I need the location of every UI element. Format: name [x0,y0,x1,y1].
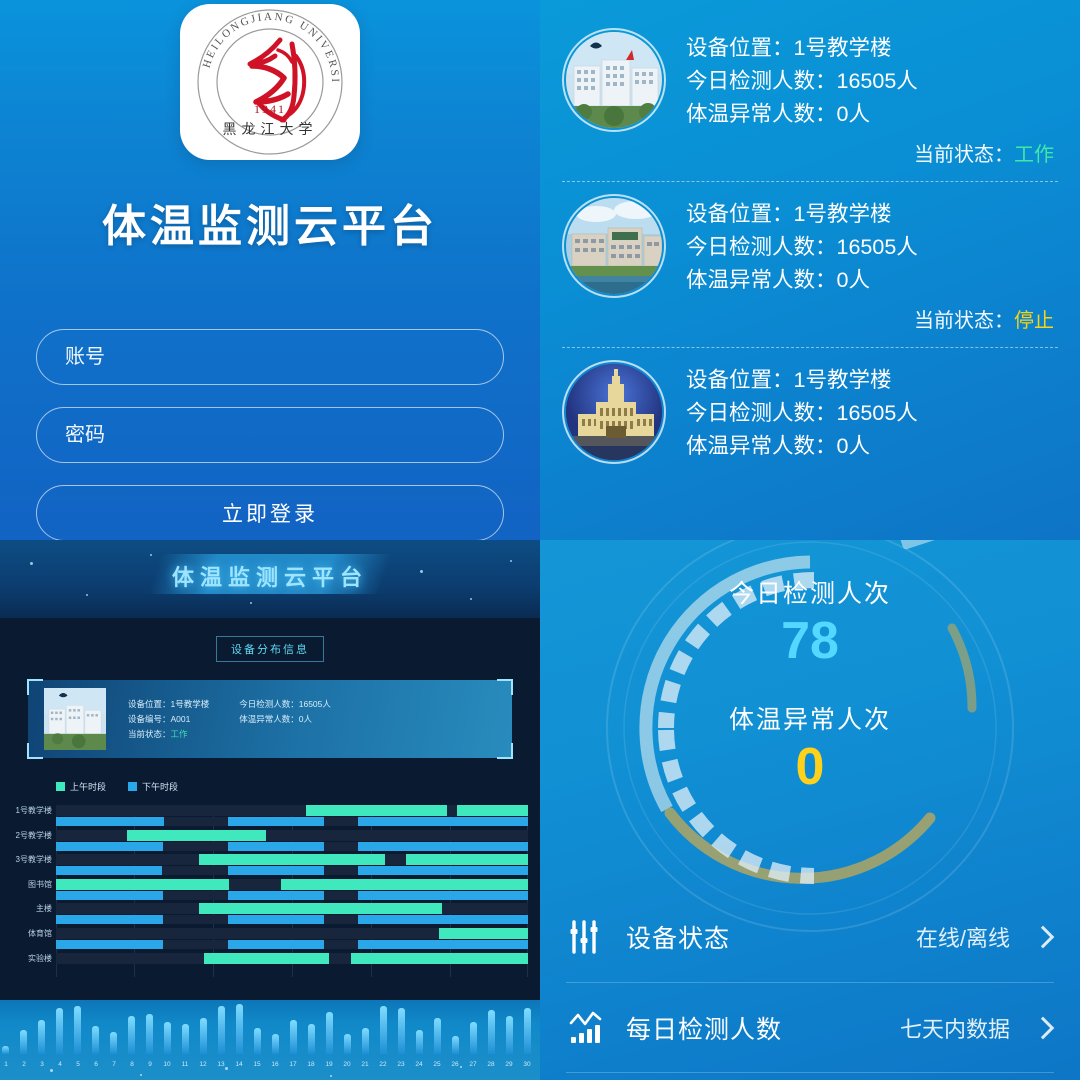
dashboard-device-thumbnail [44,688,106,750]
device-location-line: 设备位置：1号教学楼 [686,32,918,65]
stats-menu: 设备状态 在线/离线 每日检测人数 [540,892,1080,1080]
star-dot [510,560,512,562]
login-button[interactable]: 立即登录 [36,485,504,540]
star-dot [86,594,88,596]
university-seal-icon: HEILONGJIANG UNIVERSITY 1941 黑龙江大学 [192,4,348,160]
legend-swatch [128,782,137,791]
chart-row: 2号教学楼 [56,830,528,854]
device-thumbnail [562,194,666,298]
device-status-row: 当前状态：工作 [562,138,1058,167]
status-badge: 停止 [1014,310,1054,332]
device-info: 设备位置：1号教学楼 今日检测人数：16505人 体温异常人数：0人 [686,194,918,297]
chevron-right-icon [1032,1017,1054,1039]
legend-item-afternoon: 下午时段 [128,780,178,793]
app-screenshot-grid: HEILONGJIANG UNIVERSITY 1941 黑龙江大学 [0,0,1080,1080]
menu-value: 七天内数据 [900,1012,1010,1044]
dashboard-screen: 体温监测云平台 设备分布信息 [0,540,540,1080]
device-location-value: 1号教学楼 [794,36,892,60]
card-abnormal: 体温异常人数：0人 [239,712,331,727]
corner-decoration [497,679,513,695]
login-form: 立即登录 [0,329,540,540]
bar-afternoon [56,915,163,924]
card-location: 设备位置：1号教学楼 [128,697,209,712]
device-info: 设备位置：1号教学楼 今日检测人数：16505人 体温异常人数：0人 [686,28,918,131]
device-location-label: 设备位置： [686,36,794,60]
card-column-right: 今日检测人数：16505人 体温异常人数：0人 [239,697,331,742]
device-today-label: 今日检测人数： [686,235,837,259]
card-status-label: 当前状态： [128,729,171,739]
account-input[interactable] [36,329,504,385]
device-abnormal-line: 体温异常人数：0人 [686,264,918,297]
device-abnormal-label: 体温异常人数： [686,102,837,126]
star-dot [30,562,33,565]
device-abnormal-line: 体温异常人数：0人 [686,430,918,463]
device-today-label: 今日检测人数： [686,69,837,93]
device-list-item[interactable]: 设备位置：1号教学楼 今日检测人数：16505人 体温异常人数：0人 [562,182,1058,298]
password-input[interactable] [36,407,504,463]
bar-morning [127,830,266,841]
chart-row-label: 图书馆 [8,879,52,890]
device-today-value: 16505人 [837,401,918,425]
dashboard-body: 设备分布信息 [0,618,540,1080]
legend-item-morning: 上午时段 [56,780,106,793]
device-location-line: 设备位置：1号教学楼 [686,198,918,231]
dashboard-device-card[interactable]: 设备位置：1号教学楼 设备编号：A001 当前状态：工作 今日检测人数：1650… [28,680,512,758]
chart-row-label: 实验楼 [8,953,52,964]
star-dot [470,598,472,600]
device-location-value: 1号教学楼 [794,368,892,392]
bar-afternoon [358,940,528,949]
circular-gauge-icon [600,540,1020,938]
status-badge: 工作 [1014,144,1054,166]
device-today-line: 今日检测人数：16505人 [686,231,918,264]
bar-afternoon [228,940,324,949]
chart-row: 1号教学楼 [56,805,528,829]
device-location-label: 设备位置： [686,202,794,226]
star-dot [150,554,152,556]
daily-bar-chart: 1 2 3 4 5 6 7 8 9 10 11 12 13 14 15 16 1… [0,1000,540,1080]
device-location-line: 设备位置：1号教学楼 [686,364,918,397]
bar-afternoon [358,915,528,924]
device-list-screen: 设备位置：1号教学楼 今日检测人数：16505人 体温异常人数：0人 当前状态：… [540,0,1080,540]
menu-value: 在线/离线 [916,921,1010,953]
card-column-left: 设备位置：1号教学楼 设备编号：A001 当前状态：工作 [128,697,209,742]
chart-row: 体育馆 [56,928,528,952]
device-list-item[interactable]: 设备位置：1号教学楼 今日检测人数：16505人 体温异常人数：0人 [562,16,1058,132]
device-abnormal-line: 体温异常人数：0人 [686,98,918,131]
bar-morning [439,928,528,939]
chart-bar-icon [566,1011,608,1045]
bar-morning [56,879,229,890]
device-today-line: 今日检测人数：16505人 [686,397,918,430]
bar-afternoon [228,915,324,924]
bar-morning [306,805,447,816]
bar-afternoon [358,842,528,851]
dashboard-card-columns: 设备位置：1号教学楼 设备编号：A001 当前状态：工作 今日检测人数：1650… [128,697,496,742]
device-today-label: 今日检测人数： [686,401,837,425]
dashboard-header: 体温监测云平台 [0,540,540,618]
bar-afternoon [228,891,324,900]
device-status-row: 当前状态：停止 [562,304,1058,333]
bar-afternoon [228,817,324,826]
menu-label: 设备状态 [626,919,730,955]
bar-afternoon [358,866,528,875]
chart-row-label: 体育馆 [8,928,52,939]
star-dot [420,570,423,573]
device-abnormal-value: 0人 [837,268,870,292]
legend-swatch [56,782,65,791]
menu-item-device-status[interactable]: 设备状态 在线/离线 [566,892,1054,982]
menu-item-daily-count[interactable]: 每日检测人数 七天内数据 [566,982,1054,1072]
device-today-value: 16505人 [837,69,918,93]
bar-morning [406,854,528,865]
card-status-line: 当前状态：工作 [128,727,209,742]
menu-label: 每日检测人数 [626,1010,782,1046]
card-device-no: 设备编号：A001 [128,712,209,727]
corner-decoration [497,743,513,759]
svg-text:1941: 1941 [254,102,286,116]
chevron-right-icon [1032,926,1054,948]
card-status-value: 工作 [171,729,188,739]
device-location-label: 设备位置： [686,368,794,392]
bar-afternoon [228,866,324,875]
device-status-label: 当前状态： [914,310,1014,332]
device-status-label: 当前状态： [914,144,1014,166]
chart-row-label: 2号教学楼 [8,830,52,841]
device-abnormal-value: 0人 [837,102,870,126]
device-abnormal-value: 0人 [837,434,870,458]
bar-afternoon [358,891,528,900]
device-thumbnail [562,28,666,132]
legend-label: 上午时段 [70,780,106,793]
bar-afternoon [56,940,163,949]
bar-afternoon [56,891,163,900]
bar-morning [281,879,528,890]
device-thumbnail [562,360,666,464]
stats-screen: 今日检测人次 78 体温异常人次 0 [540,540,1080,1080]
card-today: 今日检测人数：16505人 [239,697,331,712]
bar-afternoon [358,817,528,826]
menu-item-third[interactable] [566,1072,1054,1080]
bar-afternoon [228,842,324,851]
app-title: 体温监测云平台 [102,190,438,254]
chart-row: 实验楼 [56,953,528,977]
bar-morning [457,805,528,816]
corner-decoration [27,679,43,695]
bar-afternoon [56,866,162,875]
sliders-icon [566,920,608,954]
bar-morning [204,953,329,964]
bar-afternoon [56,842,163,851]
device-info: 设备位置：1号教学楼 今日检测人数：16505人 体温异常人数：0人 [686,360,918,463]
chart-row: 3号教学楼 [56,854,528,878]
corner-decoration [27,743,43,759]
device-abnormal-label: 体温异常人数： [686,434,837,458]
gauge-section: 今日检测人次 78 体温异常人次 0 [540,540,1080,892]
section-title-device-distribution: 设备分布信息 [216,636,324,662]
device-today-line: 今日检测人数：16505人 [686,65,918,98]
device-location-value: 1号教学楼 [794,202,892,226]
university-logo-card: HEILONGJIANG UNIVERSITY 1941 黑龙江大学 [180,4,360,160]
bar-afternoon [56,817,164,826]
dashboard-title: 体温监测云平台 [0,560,540,592]
chart-row-label: 1号教学楼 [8,805,52,816]
chart-row-label: 3号教学楼 [8,854,52,865]
bar-morning [199,903,442,914]
login-screen: HEILONGJIANG UNIVERSITY 1941 黑龙江大学 [0,0,540,540]
svg-text:黑龙江大学: 黑龙江大学 [223,122,318,138]
chart-row: 主楼 [56,903,528,927]
device-list-item[interactable]: 设备位置：1号教学楼 今日检测人数：16505人 体温异常人数：0人 [562,348,1058,464]
bar-morning [351,953,528,964]
legend-label: 下午时段 [142,780,178,793]
bar-morning [199,854,385,865]
device-abnormal-label: 体温异常人数： [686,268,837,292]
chart-row-label: 主楼 [8,903,52,914]
horizontal-bar-chart: 1号教学楼 2号教学楼 3号教学楼 [56,805,528,977]
chart-row: 图书馆 [56,879,528,903]
star-dot [250,602,252,604]
chart-legend: 上午时段 下午时段 [56,780,540,793]
device-today-value: 16505人 [837,235,918,259]
